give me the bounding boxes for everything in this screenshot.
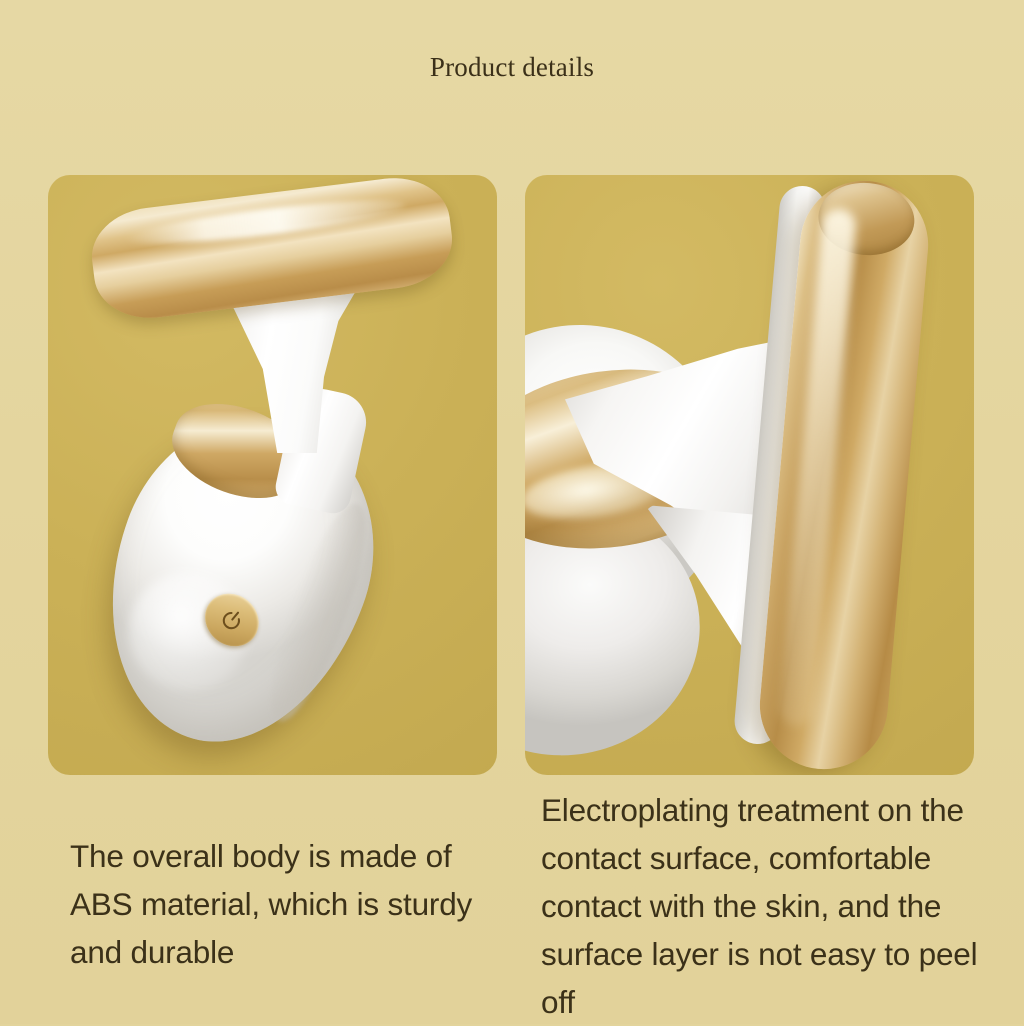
product-photo-right: [525, 175, 974, 775]
product-image-panel-left[interactable]: [48, 175, 497, 775]
page-title: Product details: [0, 52, 1024, 83]
body-edge-shadow: [252, 494, 383, 730]
caption-right: Electroplating treatment on the contact …: [541, 786, 991, 1026]
power-icon: [214, 602, 251, 639]
device-gold-head: [87, 175, 458, 325]
product-details-page: Product details: [0, 0, 1024, 1024]
product-image-panel-right[interactable]: [525, 175, 974, 775]
product-photo-left: [48, 175, 497, 775]
caption-left: The overall body is made of ABS material…: [70, 832, 510, 976]
